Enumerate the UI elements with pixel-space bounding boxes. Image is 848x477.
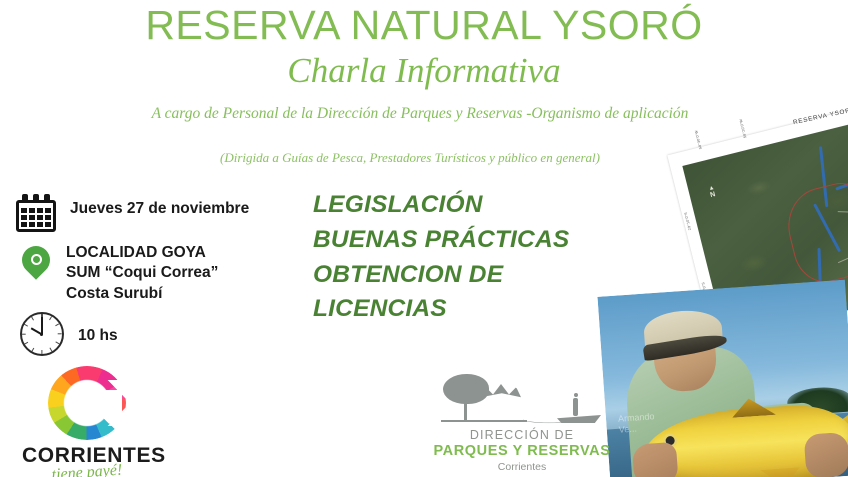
topic-item: OBTENCION DE — [313, 258, 569, 293]
map-pin-icon — [22, 246, 52, 288]
map-coordinate: 29°10'0"S — [684, 212, 692, 231]
map-coordinate: 58°20'0"W — [739, 119, 748, 139]
location-line-3: Costa Surubí — [66, 284, 218, 304]
topic-item: LICENCIAS — [313, 292, 569, 327]
page-audience-note: (Dirigida a Guías de Pesca, Prestadores … — [110, 150, 710, 166]
parques-line-2: PARQUES Y RESERVAS — [432, 443, 612, 459]
map-title: RESERVA YSORÓ - GOYA CORRIENTES — [793, 88, 848, 126]
north-arrow-icon: N — [708, 185, 717, 199]
poster-canvas: RESERVA NATURAL YSORÓ Charla Informativa… — [0, 0, 848, 477]
clock-icon — [20, 312, 66, 358]
page-subtitle: Charla Informativa — [0, 52, 848, 90]
event-date-label: Jueves 27 de noviembre — [70, 200, 249, 218]
page-description: A cargo de Personal de la Dirección de P… — [110, 104, 730, 124]
parques-reservas-logo: DIRECCIÓN DE PARQUES Y RESERVAS Corrient… — [432, 372, 612, 473]
corrientes-logo: CORRIENTES tiene payé! — [22, 366, 152, 477]
event-time-label: 10 hs — [78, 327, 118, 345]
parques-line-3: Corrientes — [432, 461, 612, 473]
location-line-1: LOCALIDAD GOYA — [66, 243, 218, 263]
parques-landscape-icon — [437, 372, 607, 428]
fisherman-photo: Armando Ve... — [597, 280, 848, 477]
topics-list: LEGISLACIÓN BUENAS PRÁCTICAS OBTENCION D… — [313, 188, 569, 327]
photo-content: Armando Ve... — [597, 280, 848, 477]
page-title: RESERVA NATURAL YSORÓ — [0, 4, 848, 47]
calendar-icon — [16, 194, 56, 232]
parques-line-1: DIRECCIÓN DE — [432, 428, 612, 442]
topic-item: BUENAS PRÁCTICAS — [313, 223, 569, 258]
location-line-2: SUM “Coqui Correa” — [66, 263, 218, 283]
reserve-boundary — [780, 177, 848, 288]
photo-watermark: Armando Ve... — [618, 411, 656, 435]
event-location-label: LOCALIDAD GOYA SUM “Coqui Correa” Costa … — [66, 243, 218, 304]
topic-item: LEGISLACIÓN — [313, 188, 569, 223]
corrientes-c-icon — [48, 366, 126, 440]
map-coordinate: 58°30'0"W — [694, 130, 703, 150]
